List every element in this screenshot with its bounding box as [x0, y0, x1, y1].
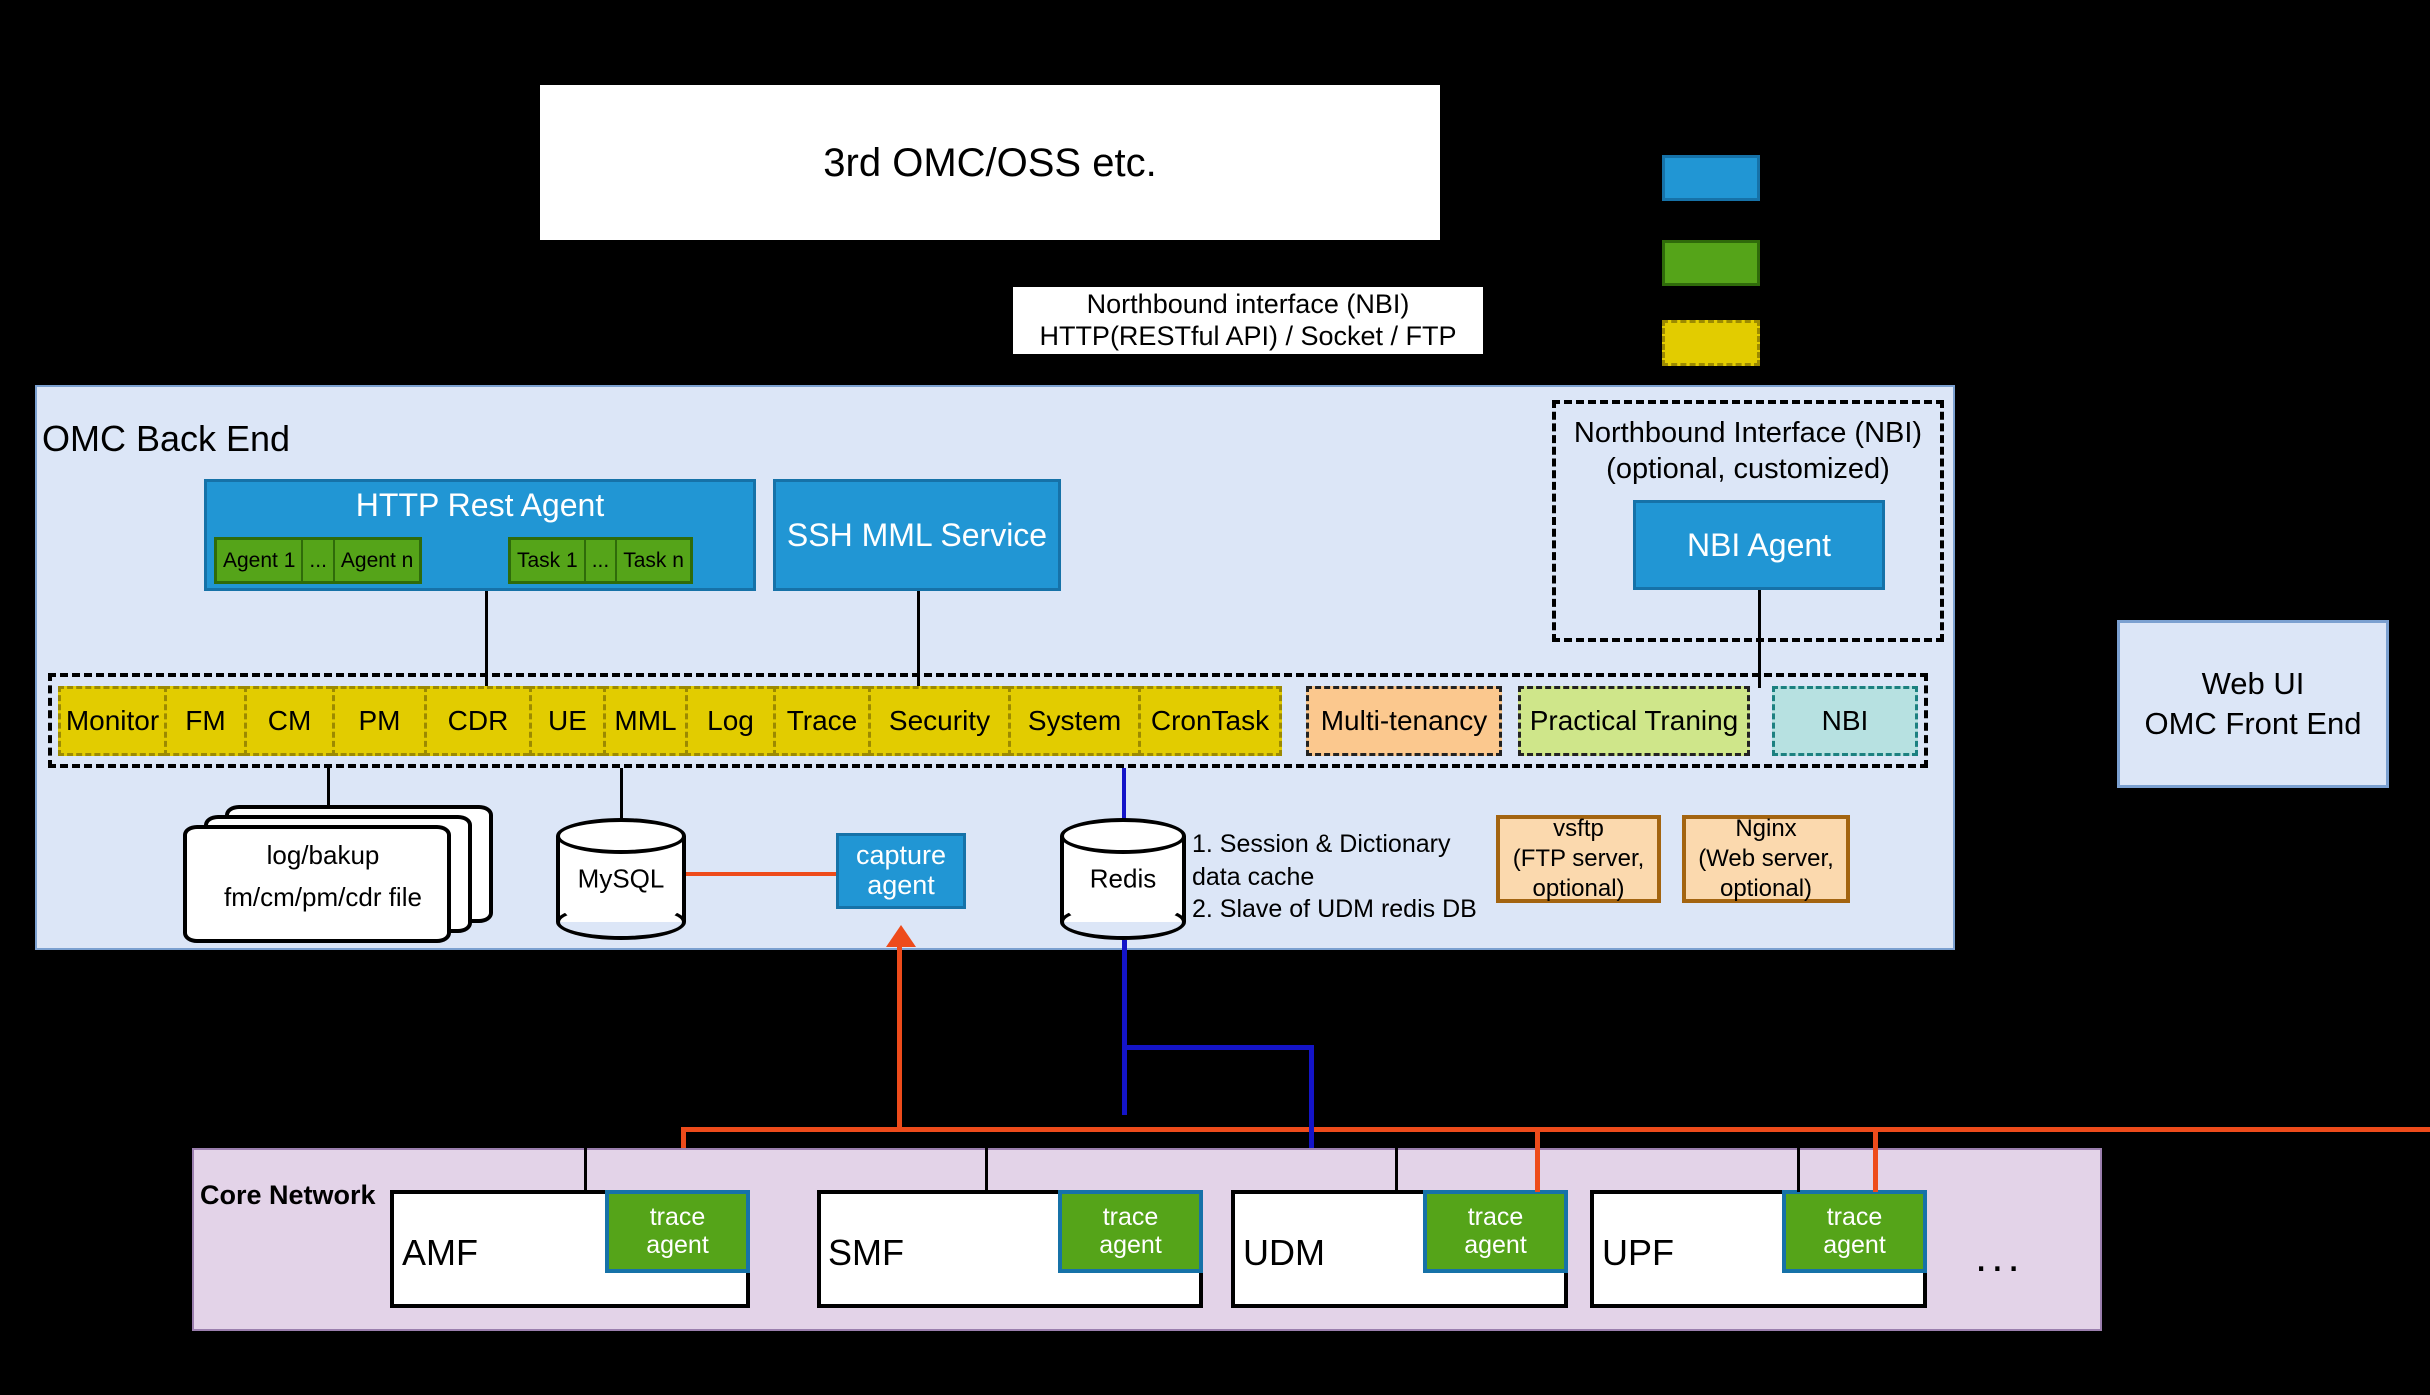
- core-network-title: Core Network: [200, 1180, 376, 1211]
- agent-group: Agent 1 ... Agent n: [214, 537, 422, 584]
- connector-red-to-udm-trace: [1535, 1127, 1540, 1192]
- module-cdr[interactable]: CDR: [424, 686, 529, 756]
- module-log[interactable]: Log: [685, 686, 773, 756]
- connector-red-to-upf-trace: [1873, 1127, 1878, 1192]
- connector-nbi-label-to-backend: [996, 354, 999, 387]
- connector-blue-redis-down: [1122, 940, 1127, 1115]
- nbi-region-line1: Northbound Interface (NBI): [1552, 415, 1944, 451]
- module-multi-tenancy[interactable]: Multi-tenancy: [1306, 686, 1502, 756]
- module-mml[interactable]: MML: [603, 686, 685, 756]
- web-ui-line1: Web UI: [2202, 664, 2305, 704]
- nbi-region-label: Northbound Interface (NBI) (optional, cu…: [1552, 415, 1944, 488]
- mysql-cylinder-top: [556, 818, 686, 854]
- agent-cell-1[interactable]: Agent 1: [217, 540, 303, 581]
- trace-agent-smf-line2: agent: [1099, 1232, 1162, 1260]
- ssh-mml-service-box[interactable]: SSH MML Service: [773, 479, 1061, 591]
- diagram-canvas: 3rd OMC/OSS etc. Northbound interface (N…: [0, 0, 2430, 1395]
- connector-modules-to-smf: [985, 1148, 988, 1192]
- connector-modules-to-files: [327, 768, 330, 810]
- task-cell-1[interactable]: Task 1: [511, 540, 586, 581]
- module-security[interactable]: Security: [868, 686, 1008, 756]
- log-backup-line1: log/bakup: [183, 835, 463, 877]
- nf-label-udm: UDM: [1243, 1232, 1325, 1274]
- redis-cylinder-top: [1060, 818, 1186, 854]
- nbi-protocol-line2: HTTP(RESTful API) / Socket / FTP: [1039, 321, 1456, 352]
- module-practical-training[interactable]: Practical Traning: [1518, 686, 1750, 756]
- trace-agent-amf-line1: trace: [650, 1204, 706, 1232]
- capture-agent-box[interactable]: capture agent: [836, 833, 966, 909]
- mysql-cylinder-bottom: [556, 904, 686, 940]
- module-pm[interactable]: PM: [332, 686, 424, 756]
- connector-modules-to-upf: [1797, 1148, 1800, 1192]
- trace-agent-udm-line1: trace: [1468, 1204, 1524, 1232]
- nginx-server-box: Nginx (Web server, optional): [1682, 815, 1850, 903]
- connector-mysql-to-capture-agent: [686, 872, 836, 876]
- omc-back-end-title: OMC Back End: [42, 418, 290, 460]
- vsftp-name: vsftp: [1553, 814, 1604, 844]
- connector-omc-to-nbi-label: [996, 240, 999, 290]
- nbi-region-line2: (optional, customized): [1552, 451, 1944, 487]
- log-backup-label: log/bakup fm/cm/pm/cdr file: [183, 835, 463, 918]
- vsftp-line3: optional): [1532, 874, 1624, 904]
- redis-database-cylinder: Redis: [1060, 818, 1186, 940]
- module-trace[interactable]: Trace: [773, 686, 868, 756]
- connector-modules-to-udm: [1395, 1148, 1398, 1192]
- connector-red-trunk-vertical: [897, 945, 902, 1130]
- capture-agent-line2: agent: [867, 871, 935, 901]
- module-bar: Monitor FM CM PM CDR UE MML Log Trace Se…: [58, 686, 1282, 756]
- legend-blue-swatch: [1662, 155, 1760, 201]
- arrow-capture-agent-up: [886, 925, 916, 947]
- legend-yellow-swatch: [1662, 320, 1760, 366]
- redis-note-line1: 1. Session & Dictionary: [1192, 828, 1492, 861]
- trace-agent-upf-line1: trace: [1827, 1204, 1883, 1232]
- module-monitor[interactable]: Monitor: [58, 686, 164, 756]
- capture-agent-line1: capture: [856, 841, 946, 871]
- module-ue[interactable]: UE: [529, 686, 603, 756]
- trace-agent-upf-line2: agent: [1823, 1232, 1886, 1260]
- connector-modules-to-amf: [584, 1148, 587, 1192]
- task-cell-ellipsis: ...: [586, 540, 618, 581]
- task-group: Task 1 ... Task n: [508, 537, 693, 584]
- trace-agent-udm-line2: agent: [1464, 1232, 1527, 1260]
- redis-note-line2: data cache: [1192, 861, 1492, 894]
- nf-label-upf: UPF: [1602, 1232, 1674, 1274]
- vsftp-line2: (FTP server,: [1513, 844, 1645, 874]
- redis-note: 1. Session & Dictionary data cache 2. Sl…: [1192, 828, 1492, 926]
- nginx-line3: optional): [1720, 874, 1812, 904]
- agent-cell-n[interactable]: Agent n: [335, 540, 419, 581]
- task-cell-n[interactable]: Task n: [617, 540, 690, 581]
- trace-agent-smf-line1: trace: [1103, 1204, 1159, 1232]
- nginx-name: Nginx: [1735, 814, 1796, 844]
- module-nbi[interactable]: NBI: [1772, 686, 1918, 756]
- connector-modules-to-redis: [1122, 768, 1126, 820]
- nf-label-smf: SMF: [828, 1232, 904, 1274]
- connector-modules-to-mysql: [620, 768, 623, 820]
- mysql-database-cylinder: MySQL: [556, 818, 686, 940]
- nbi-protocol-line1: Northbound interface (NBI): [1087, 289, 1410, 320]
- module-system[interactable]: System: [1008, 686, 1138, 756]
- redis-note-line3: 2. Slave of UDM redis DB: [1192, 893, 1492, 926]
- connector-blue-horizontal: [1122, 1045, 1314, 1050]
- trace-agent-amf-line2: agent: [646, 1232, 709, 1260]
- module-fm[interactable]: FM: [164, 686, 244, 756]
- core-network-ellipsis: ...: [1975, 1232, 2024, 1282]
- web-ui-front-end-box[interactable]: Web UI OMC Front End: [2117, 620, 2389, 788]
- redis-cylinder-bottom: [1060, 904, 1186, 940]
- module-cm[interactable]: CM: [244, 686, 332, 756]
- web-ui-line2: OMC Front End: [2144, 704, 2361, 744]
- third-party-omc-oss-box: 3rd OMC/OSS etc.: [540, 85, 1440, 240]
- legend-green-swatch: [1662, 240, 1760, 286]
- trace-agent-smf[interactable]: trace agent: [1058, 1190, 1203, 1273]
- trace-agent-udm[interactable]: trace agent: [1423, 1190, 1568, 1273]
- agent-cell-ellipsis: ...: [303, 540, 335, 581]
- trace-agent-upf[interactable]: trace agent: [1782, 1190, 1927, 1273]
- nbi-agent-box[interactable]: NBI Agent: [1633, 500, 1885, 590]
- mysql-label: MySQL: [556, 864, 686, 895]
- trace-agent-amf[interactable]: trace agent: [605, 1190, 750, 1273]
- log-backup-line2: fm/cm/pm/cdr file: [183, 877, 463, 919]
- redis-label: Redis: [1060, 864, 1186, 895]
- vsftp-server-box: vsftp (FTP server, optional): [1496, 815, 1661, 903]
- http-rest-agent-title: HTTP Rest Agent: [204, 487, 756, 524]
- module-crontask[interactable]: CronTask: [1138, 686, 1282, 756]
- nf-label-amf: AMF: [402, 1232, 478, 1274]
- nbi-protocol-label-box: Northbound interface (NBI) HTTP(RESTful …: [1013, 287, 1483, 354]
- connector-red-bus-horizontal: [681, 1127, 2430, 1132]
- nginx-line2: (Web server,: [1698, 844, 1834, 874]
